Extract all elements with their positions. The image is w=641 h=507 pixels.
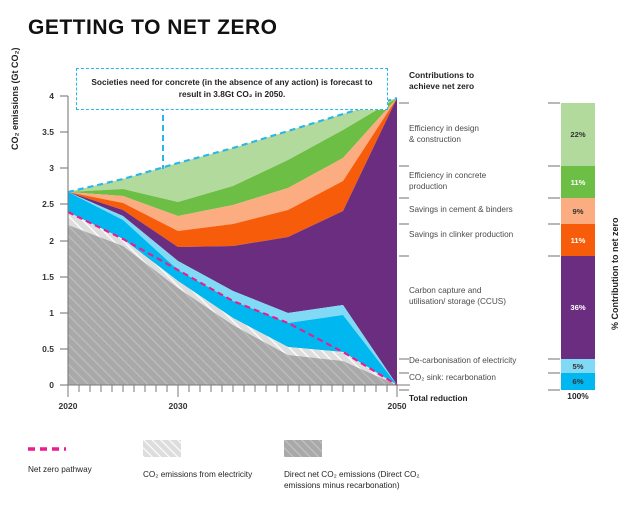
legend-label-co2-sink: CO₂ sink: recarbonation: [409, 372, 557, 383]
y-tick-0.5: 0.5: [26, 344, 54, 354]
area-stack: [68, 98, 397, 385]
pct-segment-ccus: 36%: [561, 256, 595, 359]
right-axis-label: % Contribution to net zero: [610, 218, 620, 331]
legend-label-line2: production: [409, 181, 557, 192]
x-axis-ticks: [68, 385, 397, 397]
pct-segment-efficiency-design: 22%: [561, 103, 595, 166]
legend-text-line1: Direct net CO₂ emissions (Direct CO₂: [284, 469, 484, 480]
x-tick-2020: 2020: [43, 401, 93, 411]
y-axis-ticks: [60, 96, 68, 385]
hatch-light-swatch-icon: [143, 440, 181, 457]
hatch-dark-swatch-icon: [284, 440, 322, 457]
pct-segment-decarbonisation-electricity: 5%: [561, 359, 595, 373]
y-tick-4: 4: [26, 91, 54, 101]
annotation-text: Societies need for concrete (in the abse…: [91, 77, 372, 99]
contributions-heading-line1: Contributions to: [409, 70, 559, 81]
y-tick-2.5: 2.5: [26, 199, 54, 209]
y-tick-2: 2: [26, 236, 54, 246]
contribution-percent-bar: 22% 11% 9% 11% 36% 5% 6%: [561, 103, 595, 390]
legend-item-emissions-from-electricity: CO₂ emissions from electricity: [143, 440, 283, 480]
y-tick-3: 3: [26, 163, 54, 173]
y-tick-0: 0: [26, 380, 54, 390]
y-tick-1: 1: [26, 308, 54, 318]
legend-label-efficiency-design: Efficiency in design & construction: [409, 123, 557, 145]
y-axis-label: CO₂ emissions (Gt CO₂): [10, 47, 20, 150]
pct-segment-savings-cement: 9%: [561, 198, 595, 224]
legend-text-net-zero-pathway: Net zero pathway: [28, 464, 138, 475]
pct-segment-co2-sink: 6%: [561, 373, 595, 390]
legend-label-total-reduction: Total reduction: [409, 393, 557, 404]
pct-total-value: 100%: [552, 391, 604, 401]
legend-label-line2: & construction: [409, 134, 557, 145]
legend-text-line2: emissions minus recarbonation): [284, 480, 484, 491]
legend-label-savings-clinker: Savings in clinker production: [409, 229, 557, 240]
dashed-line-icon: [28, 440, 66, 457]
contribution-connector-ticks: [399, 103, 560, 390]
contributions-heading: Contributions to achieve net zero: [409, 70, 559, 93]
legend-label-decarbonisation-electricity: De-carbonisation of electricity: [409, 355, 557, 366]
legend-label-line1: Savings in clinker production: [409, 229, 557, 240]
legend-label-line2: utilisation/ storage (CCUS): [409, 296, 557, 307]
x-tick-2030: 2030: [153, 401, 203, 411]
legend-label-ccus: Carbon capture and utilisation/ storage …: [409, 285, 557, 307]
legend-label-line1: Efficiency in concrete: [409, 170, 557, 181]
legend-label-line1: Carbon capture and: [409, 285, 557, 296]
legend-label-savings-cement: Savings in cement & binders: [409, 204, 557, 215]
legend-text-emissions-from-electricity: CO₂ emissions from electricity: [143, 469, 283, 480]
y-tick-1.5: 1.5: [26, 272, 54, 282]
contributions-heading-line2: achieve net zero: [409, 81, 559, 92]
pct-segment-savings-clinker: 11%: [561, 224, 595, 256]
legend-label-line1: Efficiency in design: [409, 123, 557, 134]
legend-label-line1: De-carbonisation of electricity: [409, 355, 557, 366]
legend-label-line1: Savings in cement & binders: [409, 204, 557, 215]
legend-label-line1: CO₂ sink: recarbonation: [409, 372, 557, 383]
dashed-line-svg: [28, 446, 66, 452]
legend-text-direct-net-emissions: Direct net CO₂ emissions (Direct CO₂ emi…: [284, 469, 484, 492]
legend-item-direct-net-emissions: Direct net CO₂ emissions (Direct CO₂ emi…: [284, 440, 484, 492]
y-tick-3.5: 3.5: [26, 127, 54, 137]
pct-segment-efficiency-concrete: 11%: [561, 166, 595, 198]
annotation-callout: Societies need for concrete (in the abse…: [76, 68, 388, 110]
legend-item-net-zero-pathway: Net zero pathway: [28, 440, 138, 475]
legend-label-efficiency-concrete: Efficiency in concrete production: [409, 170, 557, 192]
